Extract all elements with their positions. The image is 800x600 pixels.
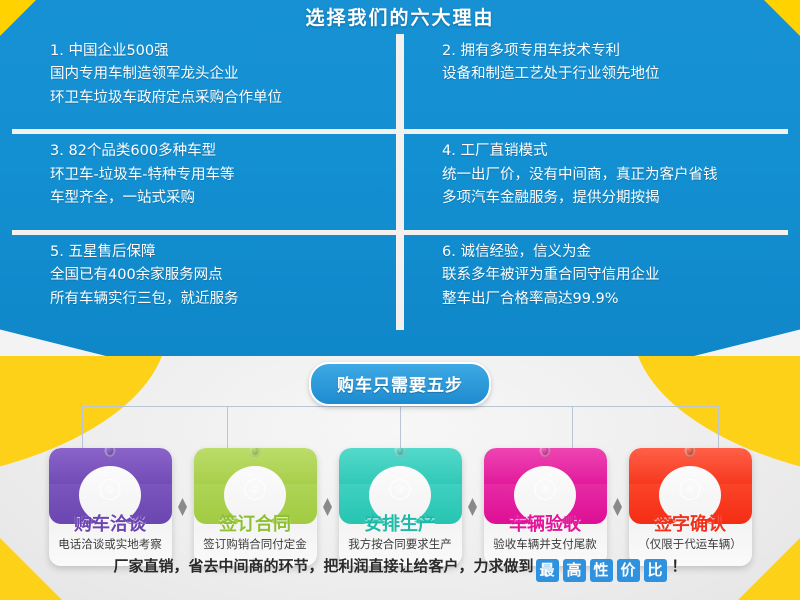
- step-arrow-2: [317, 448, 339, 566]
- step-arrow-1: [172, 448, 194, 566]
- steps-title-badge: 购车只需要五步: [309, 362, 491, 406]
- reason-6-line-1: 6. 诚信经验，信义为金: [442, 241, 778, 264]
- step-2-subtitle: 签订购销合同付定金: [194, 536, 317, 552]
- reason-item-1: 1. 中国企业500强 国内专用车制造领军龙头企业 环卫车垃圾车政府定点采购合作…: [12, 34, 396, 129]
- reason-6-line-2: 联系多年被评为重合同守信用企业: [442, 264, 778, 287]
- poster-root: 选择我们的六大理由 1. 中国企业500强 国内专用车制造领军龙头企业 环卫车垃…: [0, 0, 800, 600]
- step-1-number: ①: [100, 479, 121, 500]
- reason-item-6: 6. 诚信经验，信义为金 联系多年被评为重合同守信用企业 整车出厂合格率高达99…: [404, 235, 788, 330]
- steps-row: ① 购车洽谈 电话洽谈或实地考察 ② 签订合同 签订购销合同付定金: [0, 448, 800, 566]
- connector-tick-5: [718, 406, 719, 450]
- step-1-subtitle: 电话洽谈或实地考察: [49, 536, 172, 552]
- step-4-title: 车辆验收: [484, 510, 607, 536]
- step-4-subtitle: 验收车辆并支付尾款: [484, 536, 607, 552]
- reason-item-5: 5. 五星售后保障 全国已有400余家服务网点 所有车辆实行三包，就近服务: [12, 235, 396, 330]
- step-5-title: 签字确认: [629, 510, 752, 536]
- reason-5-line-3: 所有车辆实行三包，就近服务: [50, 288, 386, 311]
- reason-3-line-1: 3. 82个品类600多种车型: [50, 140, 386, 163]
- step-card-2[interactable]: ② 签订合同 签订购销合同付定金: [194, 448, 317, 566]
- connector-tick-2: [227, 406, 228, 450]
- reason-1-line-3: 环卫车垃圾车政府定点采购合作单位: [50, 87, 386, 110]
- reason-item-4: 4. 工厂直销模式 统一出厂价，没有中间商，真正为客户省钱 多项汽车金融服务，提…: [404, 134, 788, 229]
- arrow-right-icon: [468, 498, 477, 516]
- arrow-right-icon: [178, 498, 187, 516]
- step-4-number: ④: [535, 479, 556, 500]
- slogan-keyword-char-2: 高: [563, 559, 586, 582]
- step-3-number: ③: [390, 479, 411, 500]
- slogan-prefix: 厂家直销，省去中间商的环节，把利润直接让给客户，力求做到: [113, 557, 533, 575]
- connector-tick-4: [572, 406, 573, 450]
- step-2-number: ②: [245, 479, 266, 500]
- bottom-wedge-left: [0, 328, 114, 356]
- step-card-1[interactable]: ① 购车洽谈 电话洽谈或实地考察: [49, 448, 172, 566]
- step-5-number: ⑤: [680, 479, 701, 500]
- connector-tick-1: [82, 406, 83, 450]
- step-5-subtitle: （仅限于代运车辆）: [629, 536, 752, 552]
- arrow-right-icon: [613, 498, 622, 516]
- reason-3-line-3: 车型齐全，一站式采购: [50, 187, 386, 210]
- reason-1-line-1: 1. 中国企业500强: [50, 40, 386, 63]
- bottom-wedge-right: [686, 328, 800, 356]
- reason-2-line-2: 设备和制造工艺处于行业领先地位: [442, 63, 778, 86]
- reason-item-2: 2. 拥有多项专用车技术专利 设备和制造工艺处于行业领先地位: [404, 34, 788, 129]
- step-card-5[interactable]: ⑤ 签字确认 （仅限于代运车辆）: [629, 448, 752, 566]
- reason-6-line-3: 整车出厂合格率高达99.9%: [442, 288, 778, 311]
- footer-slogan: 厂家直销，省去中间商的环节，把利润直接让给客户，力求做到最高性价比！: [0, 555, 800, 582]
- step-card-4[interactable]: ④ 车辆验收 验收车辆并支付尾款: [484, 448, 607, 566]
- reason-1-line-2: 国内专用车制造领军龙头企业: [50, 63, 386, 86]
- grid-divider-vertical: [396, 34, 404, 330]
- slogan-keyword-char-5: 比: [644, 559, 667, 582]
- step-card-3[interactable]: ③ 安排生产 我方按合同要求生产: [339, 448, 462, 566]
- reason-2-line-1: 2. 拥有多项专用车技术专利: [442, 40, 778, 63]
- page-title: 选择我们的六大理由: [0, 3, 800, 30]
- slogan-keyword-char-1: 最: [536, 559, 559, 582]
- reasons-grid: 1. 中国企业500强 国内专用车制造领军龙头企业 环卫车垃圾车政府定点采购合作…: [12, 34, 788, 330]
- step-1-title: 购车洽谈: [49, 510, 172, 536]
- step-arrow-4: [607, 448, 629, 566]
- step-3-subtitle: 我方按合同要求生产: [339, 536, 462, 552]
- reason-3-line-2: 环卫车-垃圾车-特种专用车等: [50, 164, 386, 187]
- reason-item-3: 3. 82个品类600多种车型 环卫车-垃圾车-特种专用车等 车型齐全，一站式采…: [12, 134, 396, 229]
- slogan-suffix: ！: [672, 557, 687, 575]
- slogan-keyword-char-4: 价: [617, 559, 640, 582]
- steps-panel: 购车只需要五步 ① 购车洽谈 电话洽谈或实地考察: [0, 356, 800, 600]
- reasons-panel: 选择我们的六大理由 1. 中国企业500强 国内专用车制造领军龙头企业 环卫车垃…: [0, 0, 800, 356]
- reason-4-line-3: 多项汽车金融服务，提供分期按揭: [442, 187, 778, 210]
- slogan-keyword-char-3: 性: [590, 559, 613, 582]
- reason-4-line-2: 统一出厂价，没有中间商，真正为客户省钱: [442, 164, 778, 187]
- reason-5-line-1: 5. 五星售后保障: [50, 241, 386, 264]
- step-arrow-3: [462, 448, 484, 566]
- step-3-title: 安排生产: [339, 510, 462, 536]
- arrow-right-icon: [323, 498, 332, 516]
- connector-tick-3b: [400, 406, 401, 450]
- reason-4-line-1: 4. 工厂直销模式: [442, 140, 778, 163]
- step-2-title: 签订合同: [194, 510, 317, 536]
- reason-5-line-2: 全国已有400余家服务网点: [50, 264, 386, 287]
